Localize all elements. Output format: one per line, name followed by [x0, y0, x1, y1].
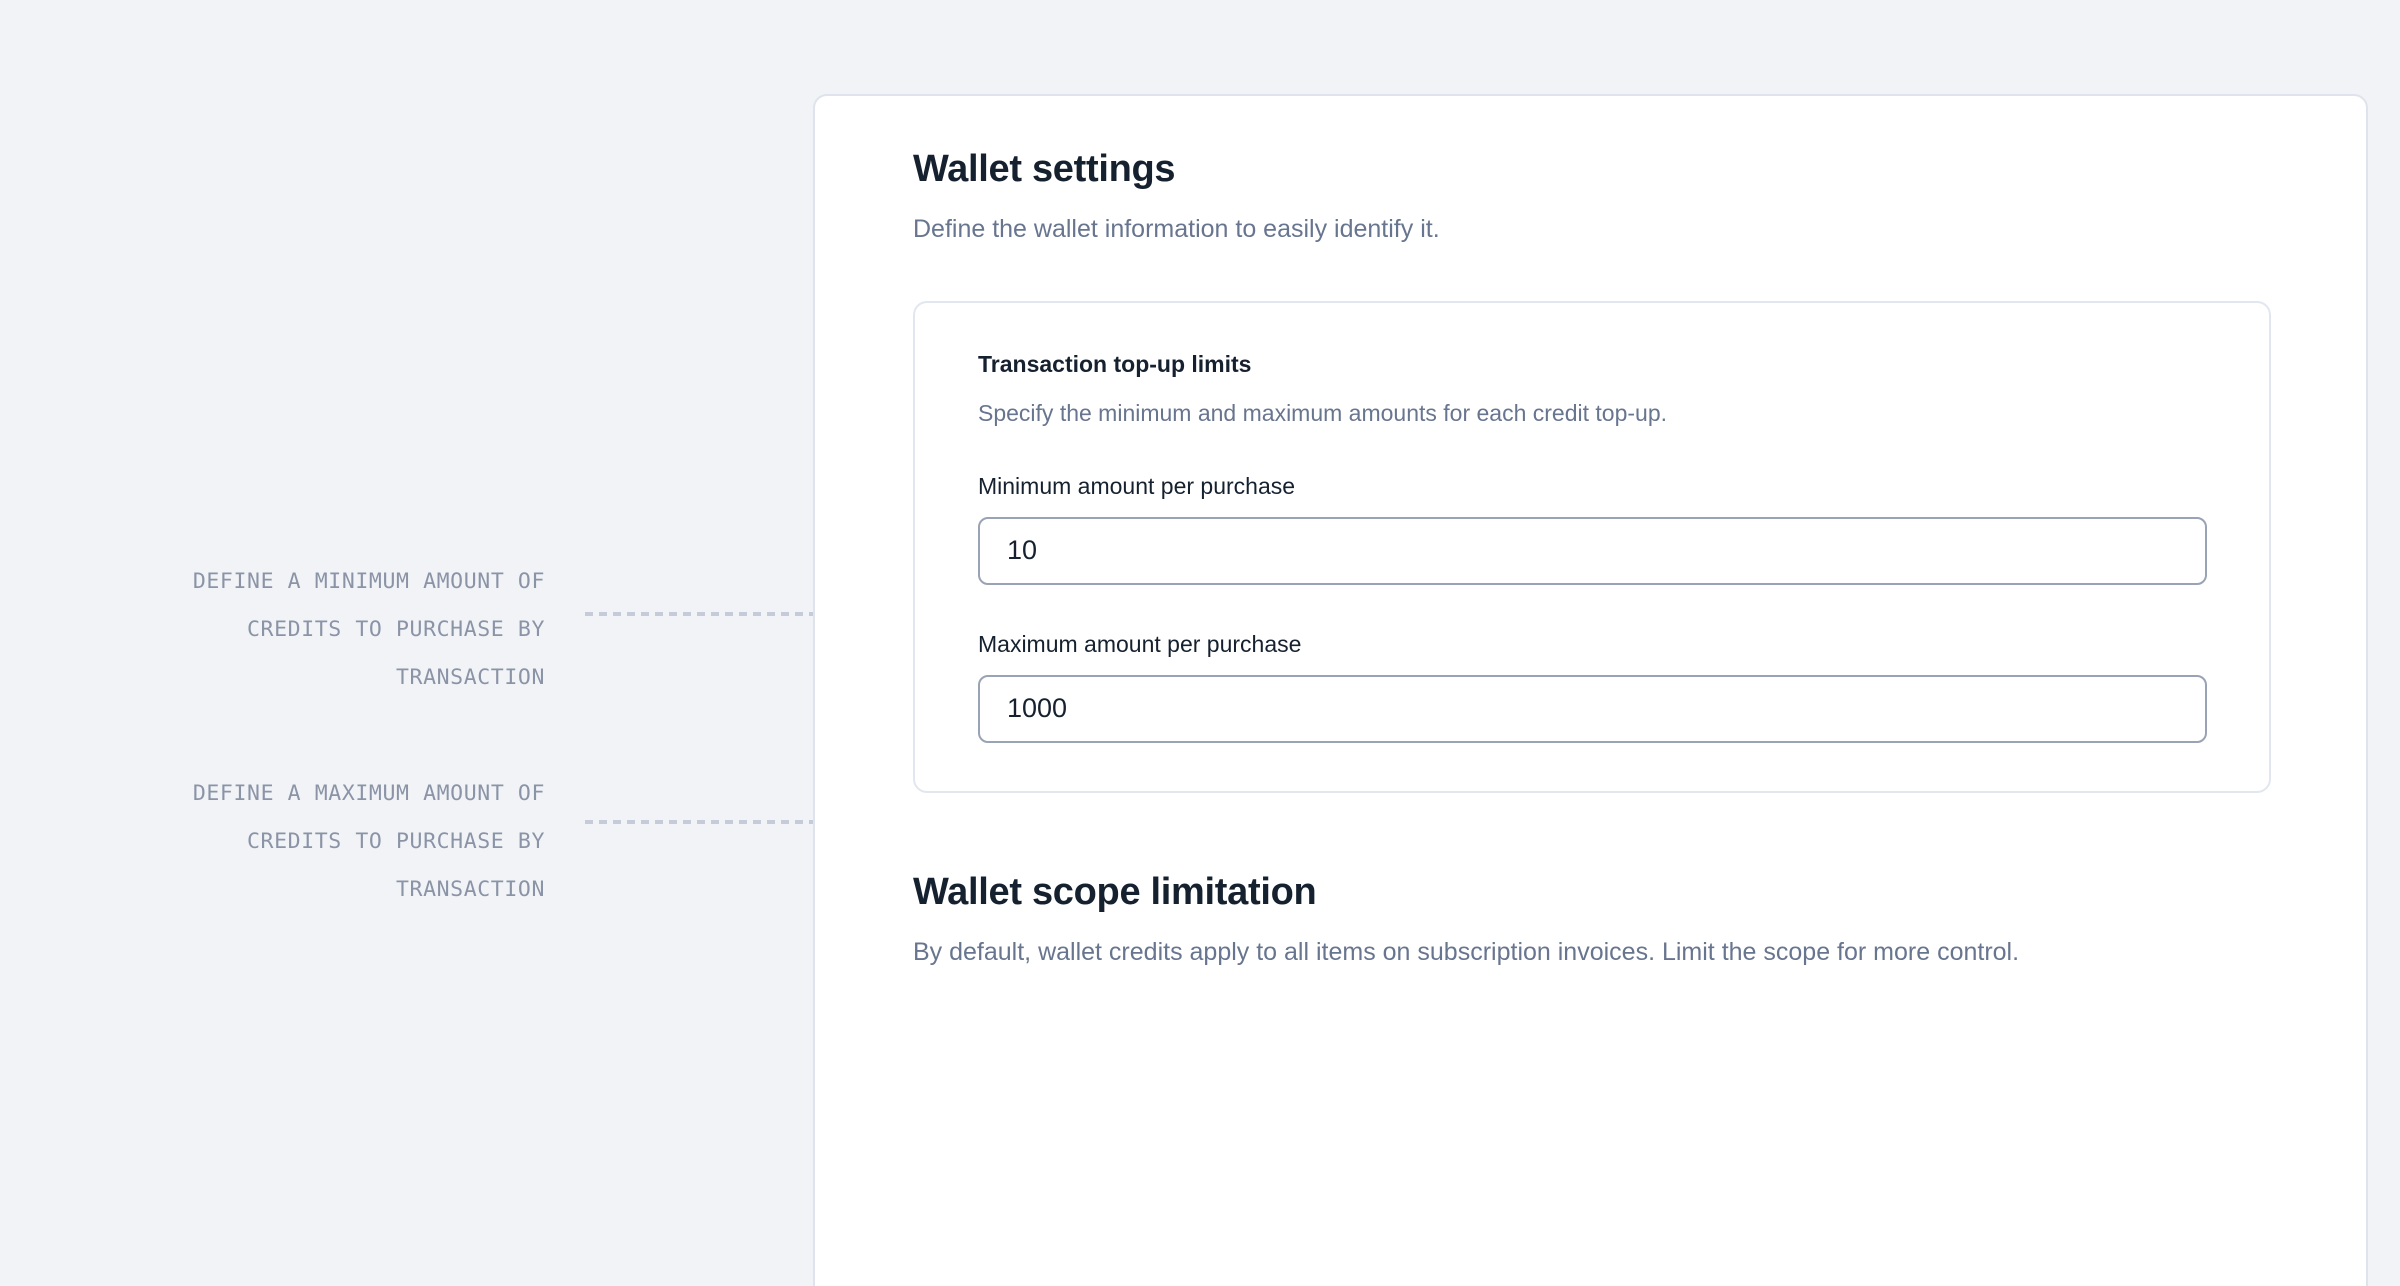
wallet-settings-panel: Wallet settings Define the wallet inform…: [813, 94, 2368, 1286]
annotation-layer: DEFINE A MINIMUM AMOUNT OF CREDITS TO PU…: [0, 0, 815, 1286]
min-amount-annotation: DEFINE A MINIMUM AMOUNT OF CREDITS TO PU…: [95, 558, 545, 702]
max-amount-annotation: DEFINE A MAXIMUM AMOUNT OF CREDITS TO PU…: [95, 770, 545, 914]
minimum-amount-input[interactable]: [978, 517, 2207, 585]
maximum-amount-field-group: Maximum amount per purchase: [978, 631, 2207, 743]
wallet-scope-description: By default, wallet credits apply to all …: [913, 936, 2268, 969]
wallet-scope-limitation-section: Wallet scope limitation By default, wall…: [913, 871, 2271, 969]
maximum-amount-label: Maximum amount per purchase: [978, 631, 1301, 657]
minimum-amount-label: Minimum amount per purchase: [978, 473, 1295, 499]
page-title: Wallet settings: [913, 148, 2271, 191]
transaction-topup-limits-card: Transaction top-up limits Specify the mi…: [913, 301, 2271, 793]
page-subtitle: Define the wallet information to easily …: [913, 213, 2271, 247]
maximum-amount-input[interactable]: [978, 675, 2207, 743]
minimum-amount-field-group: Minimum amount per purchase: [978, 473, 2207, 585]
wallet-scope-title: Wallet scope limitation: [913, 871, 2271, 914]
panel-content: Wallet settings Define the wallet inform…: [815, 96, 2366, 969]
topup-limits-subtitle: Specify the minimum and maximum amounts …: [978, 400, 2207, 427]
topup-limits-title: Transaction top-up limits: [978, 351, 2207, 378]
